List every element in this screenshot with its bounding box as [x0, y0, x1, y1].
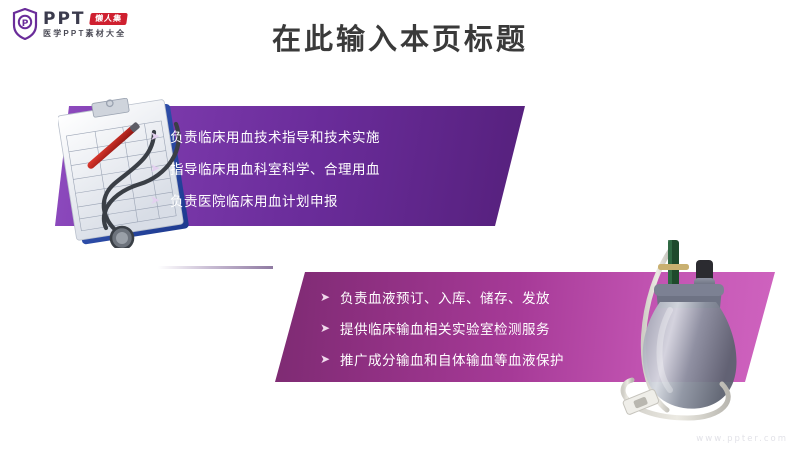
- bullet-arrow-icon: ➤: [320, 353, 334, 365]
- bullet-text: 负责医院临床用血计划申报: [170, 190, 338, 210]
- list-item: ➤ 提供临床输血相关实验室检测服务: [320, 318, 660, 338]
- list-item: ➤ 负责血液预订、入库、储存、发放: [320, 287, 660, 307]
- decorative-divider: [158, 266, 273, 269]
- bullet-arrow-icon: ➤: [150, 162, 164, 174]
- bullet-text: 负责血液预订、入库、储存、发放: [340, 287, 550, 307]
- bullet-text: 提供临床输血相关实验室检测服务: [340, 318, 550, 338]
- bullet-arrow-icon: ➤: [320, 291, 334, 303]
- page-title: 在此输入本页标题: [0, 16, 800, 58]
- upper-banner-bullet-list: ➤ 负责临床用血技术指导和技术实施 ➤ 指导临床用血科室科学、合理用血 ➤ 负责…: [150, 118, 480, 218]
- list-item: ➤ 负责临床用血技术指导和技术实施: [150, 126, 480, 146]
- bullet-text: 负责临床用血技术指导和技术实施: [170, 126, 380, 146]
- slide-canvas: P PPT 懒人集 医学PPT素材大全 在此输入本页标题: [0, 0, 800, 450]
- bullet-arrow-icon: ➤: [320, 322, 334, 334]
- bullet-arrow-icon: ➤: [150, 194, 164, 206]
- bullet-text: 推广成分输血和自体输血等血液保护: [340, 349, 564, 369]
- footer-watermark: www.ppter.com: [696, 434, 788, 444]
- list-item: ➤ 推广成分输血和自体输血等血液保护: [320, 349, 660, 369]
- bullet-arrow-icon: ➤: [150, 130, 164, 142]
- lower-banner-bullet-list: ➤ 负责血液预订、入库、储存、发放 ➤ 提供临床输血相关实验室检测服务 ➤ 推广…: [320, 283, 660, 373]
- list-item: ➤ 负责医院临床用血计划申报: [150, 190, 480, 210]
- list-item: ➤ 指导临床用血科室科学、合理用血: [150, 158, 480, 178]
- bullet-text: 指导临床用血科室科学、合理用血: [170, 158, 380, 178]
